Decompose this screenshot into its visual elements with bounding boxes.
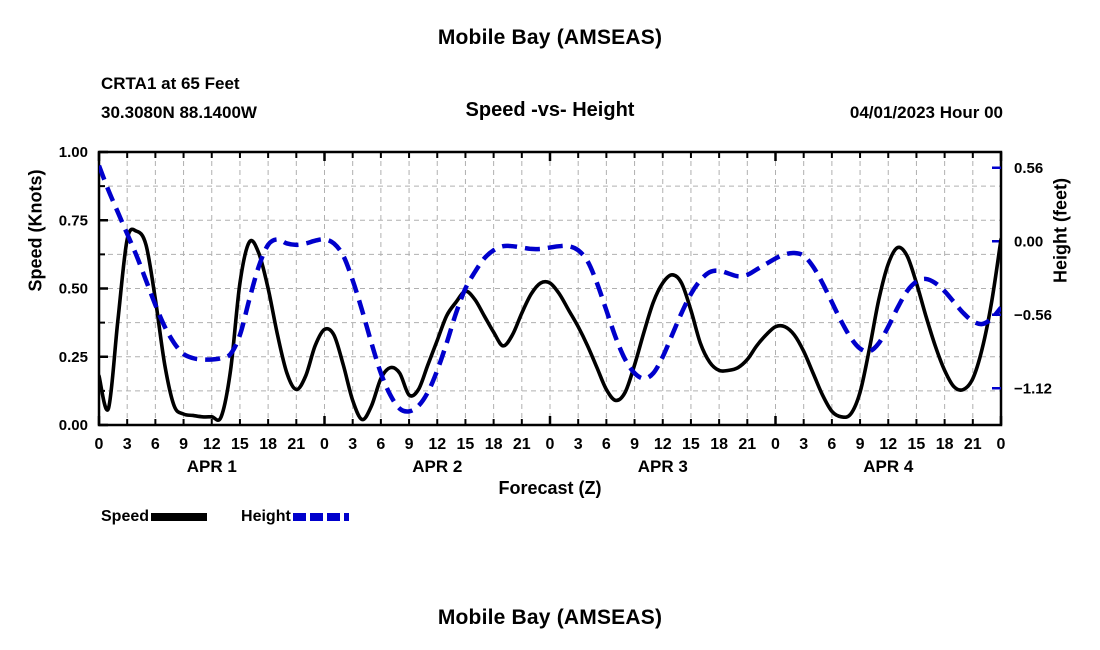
svg-text:APR 3: APR 3 xyxy=(638,457,688,476)
svg-text:0.25: 0.25 xyxy=(59,349,88,366)
svg-text:−1.12: −1.12 xyxy=(1014,380,1052,397)
svg-text:18: 18 xyxy=(485,436,503,453)
svg-text:15: 15 xyxy=(231,436,249,453)
svg-text:18: 18 xyxy=(710,436,728,453)
chart-plot: 036912151821APR 1036912151821APR 2036912… xyxy=(0,0,1100,650)
svg-text:15: 15 xyxy=(908,436,926,453)
svg-text:3: 3 xyxy=(574,436,583,453)
svg-text:18: 18 xyxy=(259,436,277,453)
svg-text:0.50: 0.50 xyxy=(59,281,88,298)
legend-item-speed: Speed xyxy=(101,508,207,526)
svg-text:6: 6 xyxy=(827,436,836,453)
svg-text:6: 6 xyxy=(602,436,611,453)
svg-text:21: 21 xyxy=(964,436,982,453)
svg-text:APR 1: APR 1 xyxy=(187,457,237,476)
svg-text:9: 9 xyxy=(405,436,414,453)
legend-swatch-height-icon xyxy=(293,513,349,521)
svg-text:12: 12 xyxy=(654,436,672,453)
svg-text:9: 9 xyxy=(856,436,865,453)
svg-text:0: 0 xyxy=(997,436,1006,453)
svg-text:3: 3 xyxy=(348,436,357,453)
svg-text:0: 0 xyxy=(771,436,780,453)
svg-text:12: 12 xyxy=(879,436,897,453)
svg-text:6: 6 xyxy=(151,436,160,453)
bottom-title: Mobile Bay (AMSEAS) xyxy=(0,606,1100,630)
svg-text:21: 21 xyxy=(738,436,756,453)
svg-text:15: 15 xyxy=(682,436,700,453)
legend-label-height: Height xyxy=(241,508,291,526)
svg-text:0.56: 0.56 xyxy=(1014,160,1043,177)
svg-text:21: 21 xyxy=(287,436,305,453)
svg-text:3: 3 xyxy=(799,436,808,453)
svg-text:0.75: 0.75 xyxy=(59,212,88,229)
svg-text:15: 15 xyxy=(457,436,475,453)
gridlines xyxy=(99,152,1001,425)
svg-text:12: 12 xyxy=(203,436,221,453)
svg-text:APR 2: APR 2 xyxy=(412,457,462,476)
svg-text:APR 4: APR 4 xyxy=(863,457,914,476)
svg-text:18: 18 xyxy=(936,436,954,453)
svg-text:0.00: 0.00 xyxy=(1014,233,1043,250)
svg-text:0: 0 xyxy=(546,436,555,453)
svg-text:9: 9 xyxy=(179,436,188,453)
svg-text:12: 12 xyxy=(428,436,446,453)
svg-text:0.00: 0.00 xyxy=(59,417,88,434)
svg-text:−0.56: −0.56 xyxy=(1014,307,1052,324)
legend-item-height: Height xyxy=(241,508,349,526)
data-series xyxy=(99,166,1001,421)
svg-text:21: 21 xyxy=(513,436,531,453)
chart-legend: Speed Height xyxy=(101,508,349,526)
svg-text:0: 0 xyxy=(95,436,104,453)
svg-text:9: 9 xyxy=(630,436,639,453)
svg-text:0: 0 xyxy=(320,436,329,453)
chart-page: Mobile Bay (AMSEAS) CRTA1 at 65 Feet 30.… xyxy=(0,0,1100,650)
legend-swatch-speed-icon xyxy=(151,513,207,521)
svg-text:1.00: 1.00 xyxy=(59,144,88,161)
legend-label-speed: Speed xyxy=(101,508,149,526)
svg-text:6: 6 xyxy=(376,436,385,453)
svg-text:3: 3 xyxy=(123,436,132,453)
